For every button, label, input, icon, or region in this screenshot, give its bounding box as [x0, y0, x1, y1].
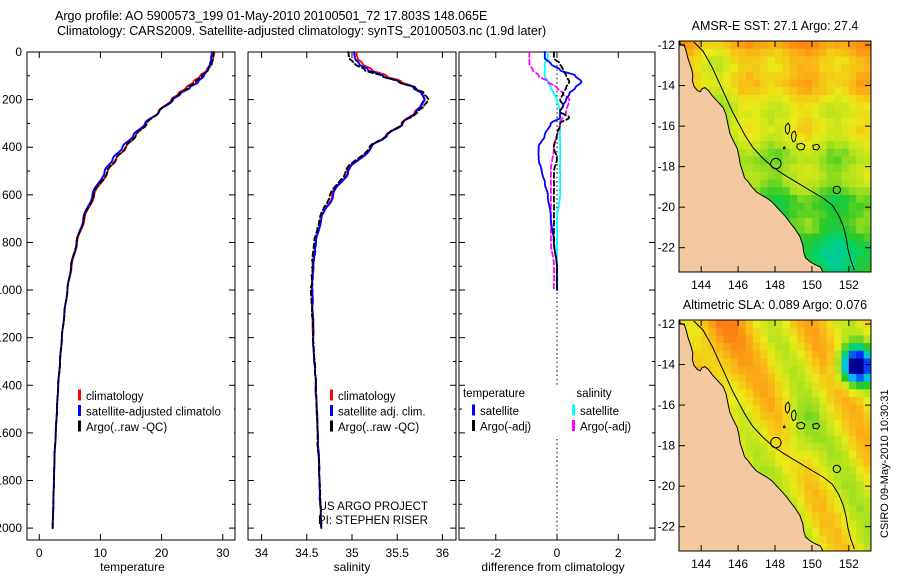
sla-map: 144146148150152-12-14-16-18-20-22 [0, 0, 900, 580]
map-ytick--14: -14 [658, 358, 676, 372]
map-ytick--20: -20 [658, 479, 676, 493]
timestamp-stamp: CSIRO 09-May-2010 10:30:31 [879, 368, 891, 538]
project-credit-line1: US ARGO PROJECT [318, 501, 428, 515]
map-xtick-152: 152 [839, 557, 859, 571]
map-ytick--12: -12 [658, 317, 676, 331]
map-xtick-150: 150 [802, 557, 822, 571]
map-ytick--18: -18 [658, 439, 676, 453]
map-ytick--16: -16 [658, 398, 676, 412]
sla-field [669, 310, 872, 561]
map-xtick-148: 148 [765, 557, 785, 571]
project-credit: US ARGO PROJECT PI: STEPHEN RISER [318, 501, 428, 528]
map-xtick-146: 146 [728, 557, 748, 571]
map-ytick--22: -22 [658, 520, 676, 534]
project-credit-line2: PI: STEPHEN RISER [318, 515, 428, 529]
map-xtick-144: 144 [691, 557, 711, 571]
